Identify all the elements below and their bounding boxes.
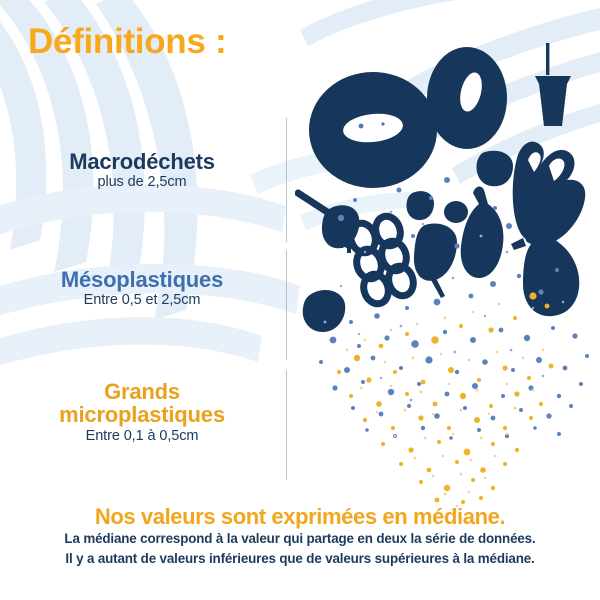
page-title: Définitions :: [28, 22, 226, 62]
category-mesoplastiques-range: Entre 0,5 et 2,5cm: [8, 292, 276, 308]
category-grands-microplastiques-title-line1: Grands: [8, 380, 276, 403]
plastic-debris-illustration: [295, 40, 600, 510]
category-mesoplastiques-title: Mésoplastiques: [8, 268, 276, 291]
category-macrodechets-title: Macrodéchets: [8, 150, 276, 173]
plastic-bag-icon: [513, 142, 586, 245]
footer-headline: Nos valeurs sont exprimées en médiane.: [0, 505, 600, 529]
fragment-icon: [303, 290, 346, 332]
category-grands-microplastiques-title-line2: microplastiques: [8, 403, 276, 426]
bottle-icon: [461, 186, 504, 278]
infographic-poster: Définitions : Macrodéchets plus de 2,5cm…: [0, 0, 600, 600]
fragment-icon: [477, 151, 513, 187]
disposable-cup-icon: [535, 43, 571, 126]
fragment-icon: [406, 191, 434, 220]
divider-segment-3: [286, 370, 287, 480]
particle-field-orange: [337, 292, 553, 510]
category-macrodechets: Macrodéchets plus de 2,5cm: [8, 150, 276, 190]
category-mesoplastiques: Mésoplastiques Entre 0,5 et 2,5cm: [8, 268, 276, 308]
footer-block: Nos valeurs sont exprimées en médiane. L…: [0, 505, 600, 568]
spray-bottle-icon: [511, 232, 579, 317]
tire-small-icon: [427, 47, 507, 149]
footer-line-1: La médiane correspond à la valeur qui pa…: [0, 529, 600, 548]
footer-line-2: Il y a autant de valeurs inférieures que…: [0, 549, 600, 568]
divider-segment-2: [286, 250, 287, 360]
fragment-icon: [431, 276, 445, 298]
category-grands-microplastiques: Grands microplastiques Entre 0,1 à 0,5cm: [8, 380, 276, 444]
fragment-icon: [444, 201, 468, 223]
category-grands-microplastiques-range: Entre 0,1 à 0,5cm: [8, 428, 276, 444]
category-macrodechets-range: plus de 2,5cm: [8, 174, 276, 190]
tire-large-icon: [309, 72, 437, 188]
fragment-icon: [414, 224, 457, 281]
divider-segment-1: [286, 118, 287, 242]
